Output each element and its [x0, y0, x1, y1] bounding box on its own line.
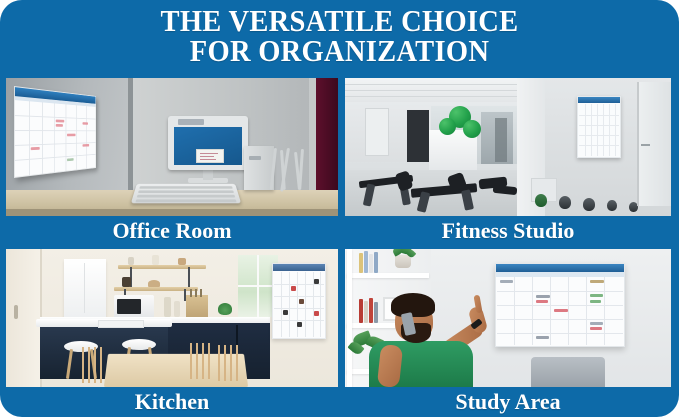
door-handle	[14, 305, 18, 319]
maroon-partition	[316, 78, 338, 196]
wall-calendar-study	[495, 263, 625, 347]
door-handle	[641, 144, 650, 146]
panel-study-area[interactable]: Study Area	[345, 249, 677, 417]
shelf-bowl	[148, 280, 160, 287]
shelf-bowl	[178, 258, 186, 265]
fitness-studio-caption: Fitness Studio	[345, 216, 671, 246]
keyboard	[131, 184, 241, 203]
gym-door-left	[365, 108, 389, 156]
calendar-header-bar	[578, 97, 620, 103]
kettlebell	[583, 198, 595, 211]
gym-ceiling	[345, 78, 541, 104]
desk-front-edge	[6, 209, 338, 216]
wall-calendar-kitchen	[272, 263, 326, 339]
monitor-logo	[178, 119, 204, 125]
kitchen-photo	[6, 249, 338, 387]
kitchen-door	[6, 249, 42, 387]
panel-office-room[interactable]: Office Room	[6, 78, 338, 246]
office-room-caption: Office Room	[6, 216, 338, 246]
shelf-board	[347, 273, 429, 278]
study-area-photo	[345, 249, 671, 387]
fitness-studio-photo	[345, 78, 671, 216]
shelf-jar	[152, 255, 159, 265]
exercise-ball	[439, 118, 456, 135]
knife-block	[186, 295, 208, 317]
cable-bundle	[272, 148, 312, 193]
person-arm-left	[377, 344, 403, 387]
dining-chair	[190, 343, 216, 379]
wall-calendar-fitness	[577, 96, 621, 158]
cubicle-corner-edge	[128, 78, 133, 198]
calendar-header-bar	[496, 264, 624, 272]
panel-grid: Office Room	[0, 78, 679, 417]
promo-card: THE VERSATILE CHOICE FOR ORGANIZATION	[0, 0, 679, 417]
shelf-canister	[122, 277, 131, 287]
shelf-bracket	[188, 267, 190, 287]
exercise-ball	[463, 120, 481, 138]
title-line-2: FOR ORGANIZATION	[27, 36, 652, 66]
kitchen-sink	[98, 320, 144, 328]
study-area-caption: Study Area	[345, 387, 671, 417]
dining-chair	[218, 345, 244, 381]
kettlebell	[535, 194, 547, 207]
sticky-note	[196, 149, 224, 163]
counter-plant	[218, 303, 232, 315]
shelf-jar	[128, 257, 134, 265]
kettlebell	[607, 200, 617, 211]
panel-fitness-studio[interactable]: Fitness Studio	[345, 78, 677, 246]
monitor-screen	[174, 127, 242, 165]
refrigerator	[64, 259, 106, 317]
panel-kitchen[interactable]: Kitchen	[6, 249, 338, 417]
counter-canister	[174, 301, 180, 317]
laptop	[531, 357, 605, 387]
gym-machine-post	[495, 118, 507, 162]
office-room-photo	[6, 78, 338, 216]
dining-chair	[82, 347, 108, 383]
kitchen-caption: Kitchen	[6, 387, 338, 417]
shelf-side	[347, 249, 352, 387]
counter-canister	[164, 297, 171, 317]
microwave	[114, 295, 154, 319]
computer-monitor	[168, 116, 248, 170]
kettlebell	[559, 196, 571, 209]
calendar-header-bar	[273, 264, 325, 271]
page-title: THE VERSATILE CHOICE FOR ORGANIZATION	[27, 6, 652, 66]
wall-calendar-office	[14, 86, 96, 178]
gym-dark-cabinet	[407, 110, 429, 162]
person-hair	[391, 293, 435, 317]
calendar-grid	[15, 100, 96, 177]
